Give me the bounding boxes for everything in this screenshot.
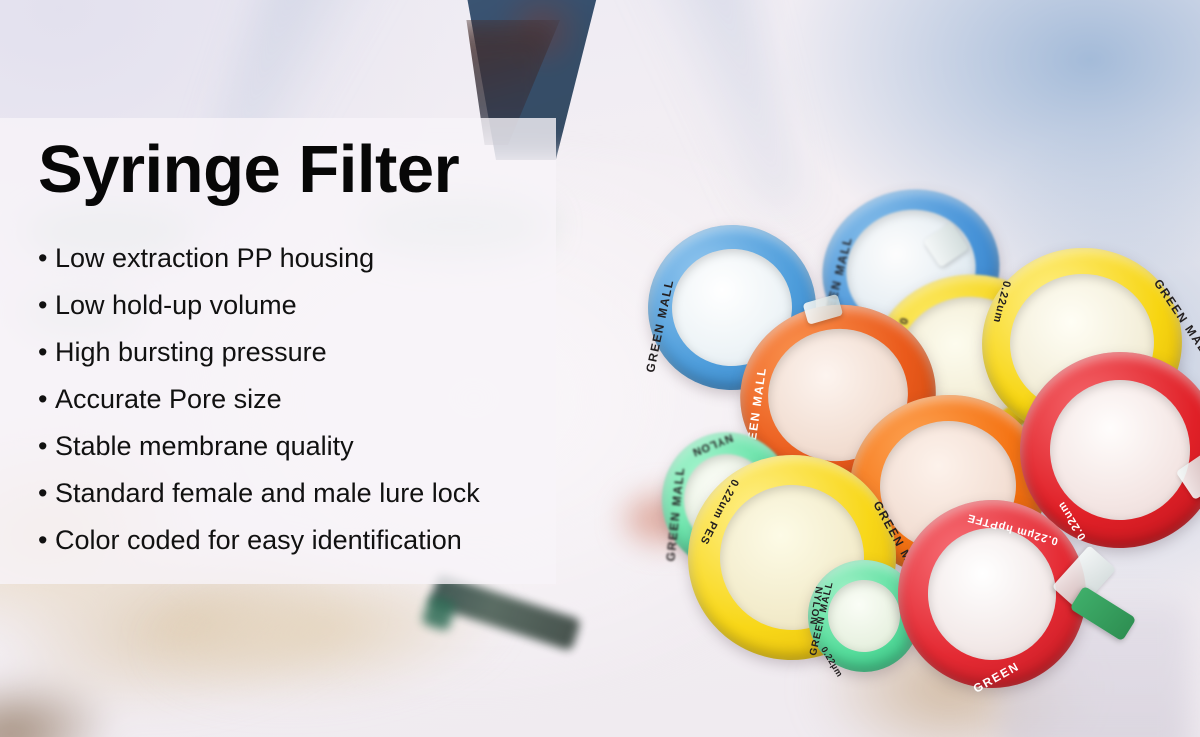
- bullet-icon: •: [38, 480, 55, 507]
- list-item-label: Low extraction PP housing: [55, 245, 374, 272]
- list-item: • Standard female and male lure lock: [38, 480, 480, 527]
- list-item: • Stable membrane quality: [38, 433, 480, 480]
- list-item: • High bursting pressure: [38, 339, 480, 386]
- list-item-label: High bursting pressure: [55, 339, 327, 366]
- bullet-icon: •: [38, 245, 55, 272]
- list-item: • Low extraction PP housing: [38, 245, 480, 292]
- text-panel: Syringe Filter • Low extraction PP housi…: [0, 118, 556, 584]
- list-item-label: Accurate Pore size: [55, 386, 282, 413]
- list-item-label: Low hold-up volume: [55, 292, 297, 319]
- bullet-icon: •: [38, 527, 55, 554]
- bullet-icon: •: [38, 386, 55, 413]
- luer-lock-stem: [1070, 586, 1137, 642]
- page-title: Syringe Filter: [38, 136, 459, 203]
- list-item: • Accurate Pore size: [38, 386, 480, 433]
- list-item-label: Stable membrane quality: [55, 433, 354, 460]
- syringe-filter-cluster: GREEN MALL GREEN MALL 0.22um PES GREE: [600, 170, 1200, 670]
- list-item: • Low hold-up volume: [38, 292, 480, 339]
- bullet-icon: •: [38, 292, 55, 319]
- feature-list: • Low extraction PP housing • Low hold-u…: [38, 245, 480, 574]
- list-item: • Color coded for easy identification: [38, 527, 480, 574]
- list-item-label: Standard female and male lure lock: [55, 480, 480, 507]
- list-item-label: Color coded for easy identification: [55, 527, 462, 554]
- bullet-icon: •: [38, 339, 55, 366]
- banner-image: GREEN MALL GREEN MALL 0.22um PES GREE: [0, 0, 1200, 737]
- bullet-icon: •: [38, 433, 55, 460]
